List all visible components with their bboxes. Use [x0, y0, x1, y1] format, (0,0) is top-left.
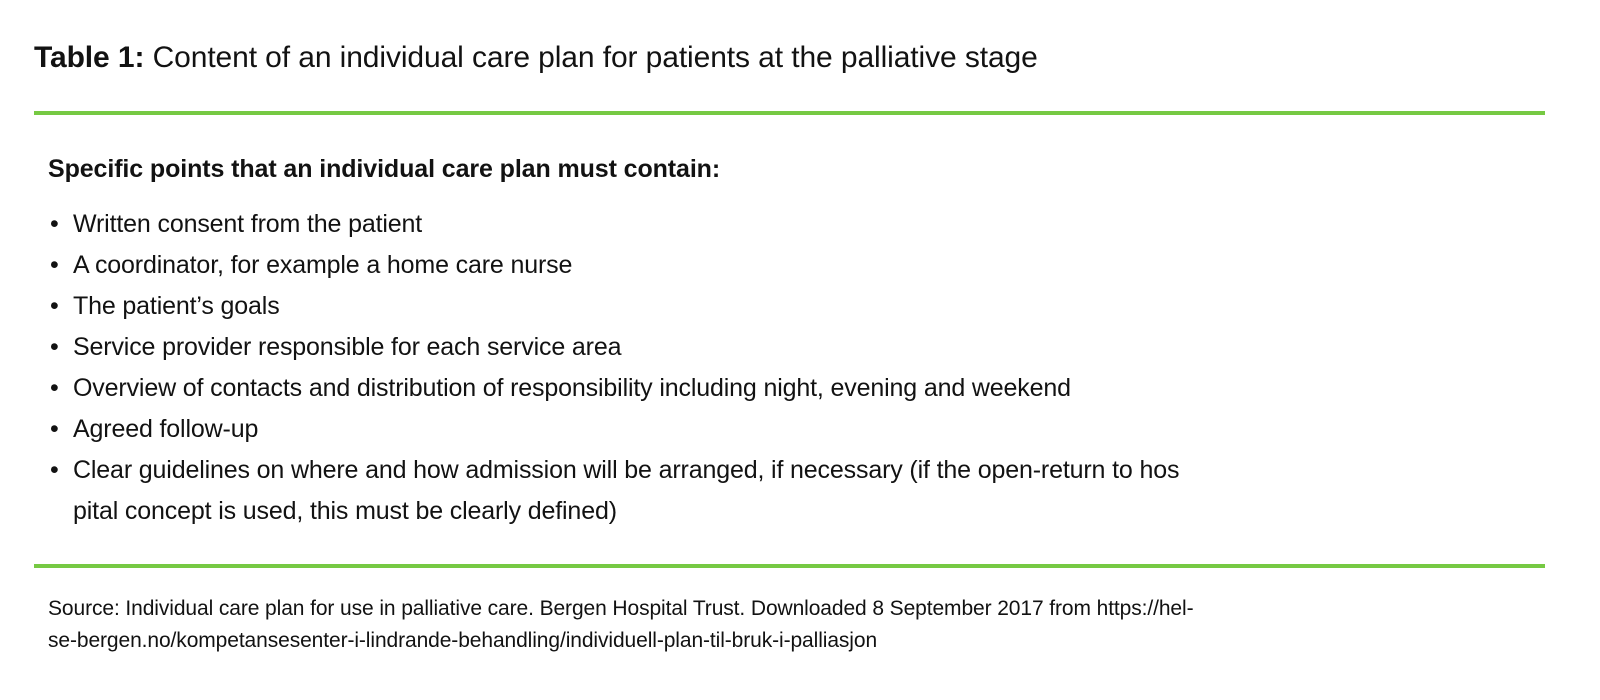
list-item-label: Agreed follow-up	[73, 415, 258, 443]
list-item-label: Clear guidelines on where and how admiss…	[73, 456, 1179, 484]
table-body: Specific points that an individual care …	[48, 152, 1548, 532]
bullet-icon: •	[50, 245, 59, 286]
list-item-label: A coordinator, for example a home care n…	[73, 251, 572, 279]
source-note: Source: Individual care plan for use in …	[48, 593, 1548, 657]
list-item: •Overview of contacts and distribution o…	[48, 368, 1548, 409]
body-subheading: Specific points that an individual care …	[48, 152, 1548, 186]
top-rule-divider	[34, 111, 1545, 115]
list-item-label: Written consent from the patient	[73, 210, 422, 238]
bullet-icon: •	[50, 327, 59, 368]
list-item-label-continued: pital concept is used, this must be clea…	[73, 491, 1548, 532]
list-item: •The patient’s goals	[48, 286, 1548, 327]
source-note-line-1: Source: Individual care plan for use in …	[48, 593, 1548, 625]
bullet-icon: •	[50, 450, 59, 491]
list-item: •Written consent from the patient	[48, 204, 1548, 245]
requirements-list: •Written consent from the patient •A coo…	[48, 204, 1548, 532]
list-item: •Agreed follow-up	[48, 409, 1548, 450]
source-note-line-2: se-bergen.no/kompetansesenter-i-lindrand…	[48, 625, 1548, 657]
table-figure: Table 1: Content of an individual care p…	[0, 0, 1600, 700]
list-item-label: The patient’s goals	[73, 292, 280, 320]
table-caption-label: Table 1:	[34, 41, 144, 74]
bullet-icon: •	[50, 368, 59, 409]
bottom-rule-divider	[34, 564, 1545, 568]
list-item-label: Service provider responsible for each se…	[73, 333, 621, 361]
list-item-label: Overview of contacts and distribution of…	[73, 374, 1071, 402]
bullet-icon: •	[50, 286, 59, 327]
table-caption-text: Content of an individual care plan for p…	[144, 41, 1037, 74]
bullet-icon: •	[50, 204, 59, 245]
list-item: •A coordinator, for example a home care …	[48, 245, 1548, 286]
bullet-icon: •	[50, 409, 59, 450]
table-caption: Table 1: Content of an individual care p…	[34, 38, 1554, 78]
list-item: •Service provider responsible for each s…	[48, 327, 1548, 368]
list-item: •Clear guidelines on where and how admis…	[48, 450, 1548, 532]
